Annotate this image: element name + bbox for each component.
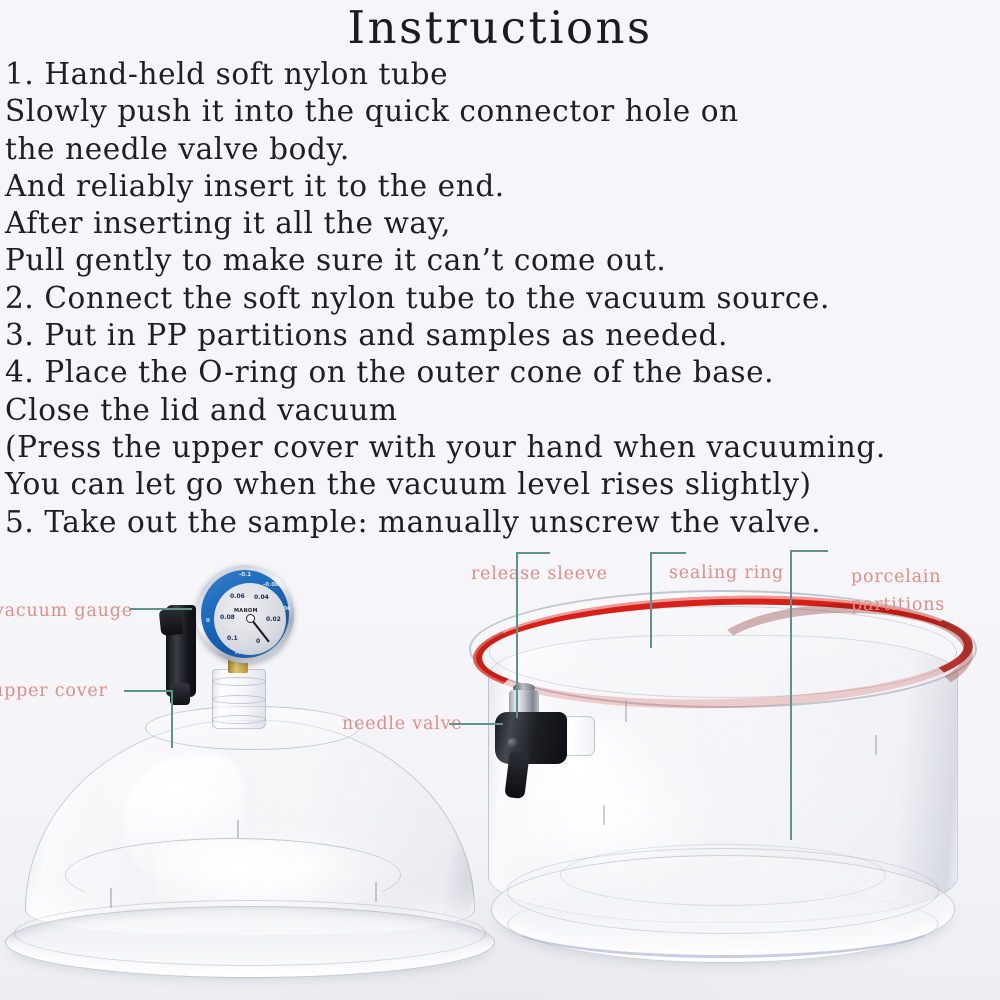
gauge-bezel: -0.1 -0.08 -0.06 -0.04 -0.02 0 MPa 0.06 … — [201, 570, 289, 658]
page-title: Instructions — [0, 2, 1000, 54]
connector-ring — [212, 715, 266, 724]
instruction-line: And reliably insert it to the end. — [5, 168, 1000, 205]
gauge-face-number: 0.02 — [266, 616, 281, 623]
gauge-bezel-number: -0.1 — [239, 572, 251, 578]
vacuum-gauge[interactable]: -0.1 -0.08 -0.06 -0.04 -0.02 0 MPa 0.06 … — [196, 565, 294, 663]
label-upper-cover: upper cover — [0, 680, 108, 702]
label-porcelain-partitions-2: partitions — [851, 594, 945, 616]
leader-line-porcelain-h — [790, 550, 828, 552]
dome-tick — [237, 820, 239, 838]
instruction-line: 5. Take out the sample: manually unscrew… — [5, 504, 1000, 541]
instruction-line: You can let go when the vacuum level ris… — [5, 466, 1000, 503]
instruction-line: Slowly push it into the quick connector … — [5, 93, 1000, 130]
instruction-line: 2. Connect the soft nylon tube to the va… — [5, 280, 1000, 317]
instructions-page: Instructions 1. Hand-held soft nylon tub… — [0, 0, 1000, 1000]
chamber-tick — [875, 735, 877, 755]
leader-line-sealing-ring-v — [650, 552, 652, 648]
leader-line-upper-cover-v — [171, 690, 173, 748]
gauge-face-number: 0.08 — [220, 614, 235, 621]
leader-line-release-sleeve-h — [516, 552, 550, 554]
label-vacuum-gauge: vacuum gauge — [0, 600, 133, 622]
leader-line-porcelain-v — [790, 550, 792, 840]
instruction-line: (Press the upper cover with your hand wh… — [5, 429, 1000, 466]
dome-tick — [375, 882, 377, 902]
needle-valve-body[interactable] — [495, 712, 567, 764]
instruction-line: Pull gently to make sure it can’t come o… — [5, 242, 1000, 279]
label-sealing-ring: sealing ring — [669, 562, 784, 584]
instruction-line: 1. Hand-held soft nylon tube — [5, 56, 1000, 93]
valve-screw[interactable] — [507, 738, 518, 749]
leader-line-release-sleeve-v — [516, 552, 518, 718]
gauge-face-number: 0 — [256, 638, 260, 645]
dome-tick — [110, 888, 112, 908]
chamber-bottom-edge — [507, 890, 939, 958]
upper-cover-dome — [5, 720, 495, 970]
gauge-face-number: 0.1 — [227, 635, 238, 642]
dome-rim-inner — [14, 900, 486, 966]
product-photo: -0.1 -0.08 -0.06 -0.04 -0.02 0 MPa 0.06 … — [0, 545, 1000, 1000]
instruction-line: the needle valve body. — [5, 131, 1000, 168]
gauge-needle-hub — [246, 614, 255, 623]
connector-ring — [212, 695, 266, 704]
connector-ring — [212, 677, 266, 686]
gauge-face-number: 0.06 — [230, 593, 245, 600]
leader-line-sealing-ring-h — [650, 552, 686, 554]
leader-line-upper-cover-h — [124, 690, 172, 692]
lid-valve-knob[interactable] — [170, 683, 190, 705]
gauge-assembly: -0.1 -0.08 -0.06 -0.04 -0.02 0 MPa 0.06 … — [160, 565, 340, 745]
label-porcelain-partitions-1: porcelain — [851, 566, 941, 588]
leader-line-vacuum-gauge — [130, 608, 192, 610]
label-needle-valve: needle valve — [342, 713, 462, 735]
gauge-face-number: 0.04 — [254, 594, 269, 601]
leader-line-needle-valve — [449, 723, 503, 725]
instruction-line: After inserting it all the way, — [5, 205, 1000, 242]
instructions-list: 1. Hand-held soft nylon tube Slowly push… — [5, 56, 1000, 578]
instruction-line: 3. Put in PP partitions and samples as n… — [5, 317, 1000, 354]
valve-lever[interactable] — [504, 751, 529, 799]
label-release-sleeve: release sleeve — [471, 563, 608, 585]
chamber-tick — [603, 805, 605, 825]
instruction-line: 4. Place the O-ring on the outer cone of… — [5, 354, 1000, 391]
lid-valve-lever[interactable] — [159, 608, 184, 636]
chamber-tick — [625, 700, 627, 722]
gauge-brand-label: MANOM — [234, 608, 258, 614]
needle-valve-assembly[interactable] — [485, 690, 605, 800]
gauge-bezel-number: 0 — [206, 618, 210, 624]
instruction-line: Close the lid and vacuum — [5, 392, 1000, 429]
